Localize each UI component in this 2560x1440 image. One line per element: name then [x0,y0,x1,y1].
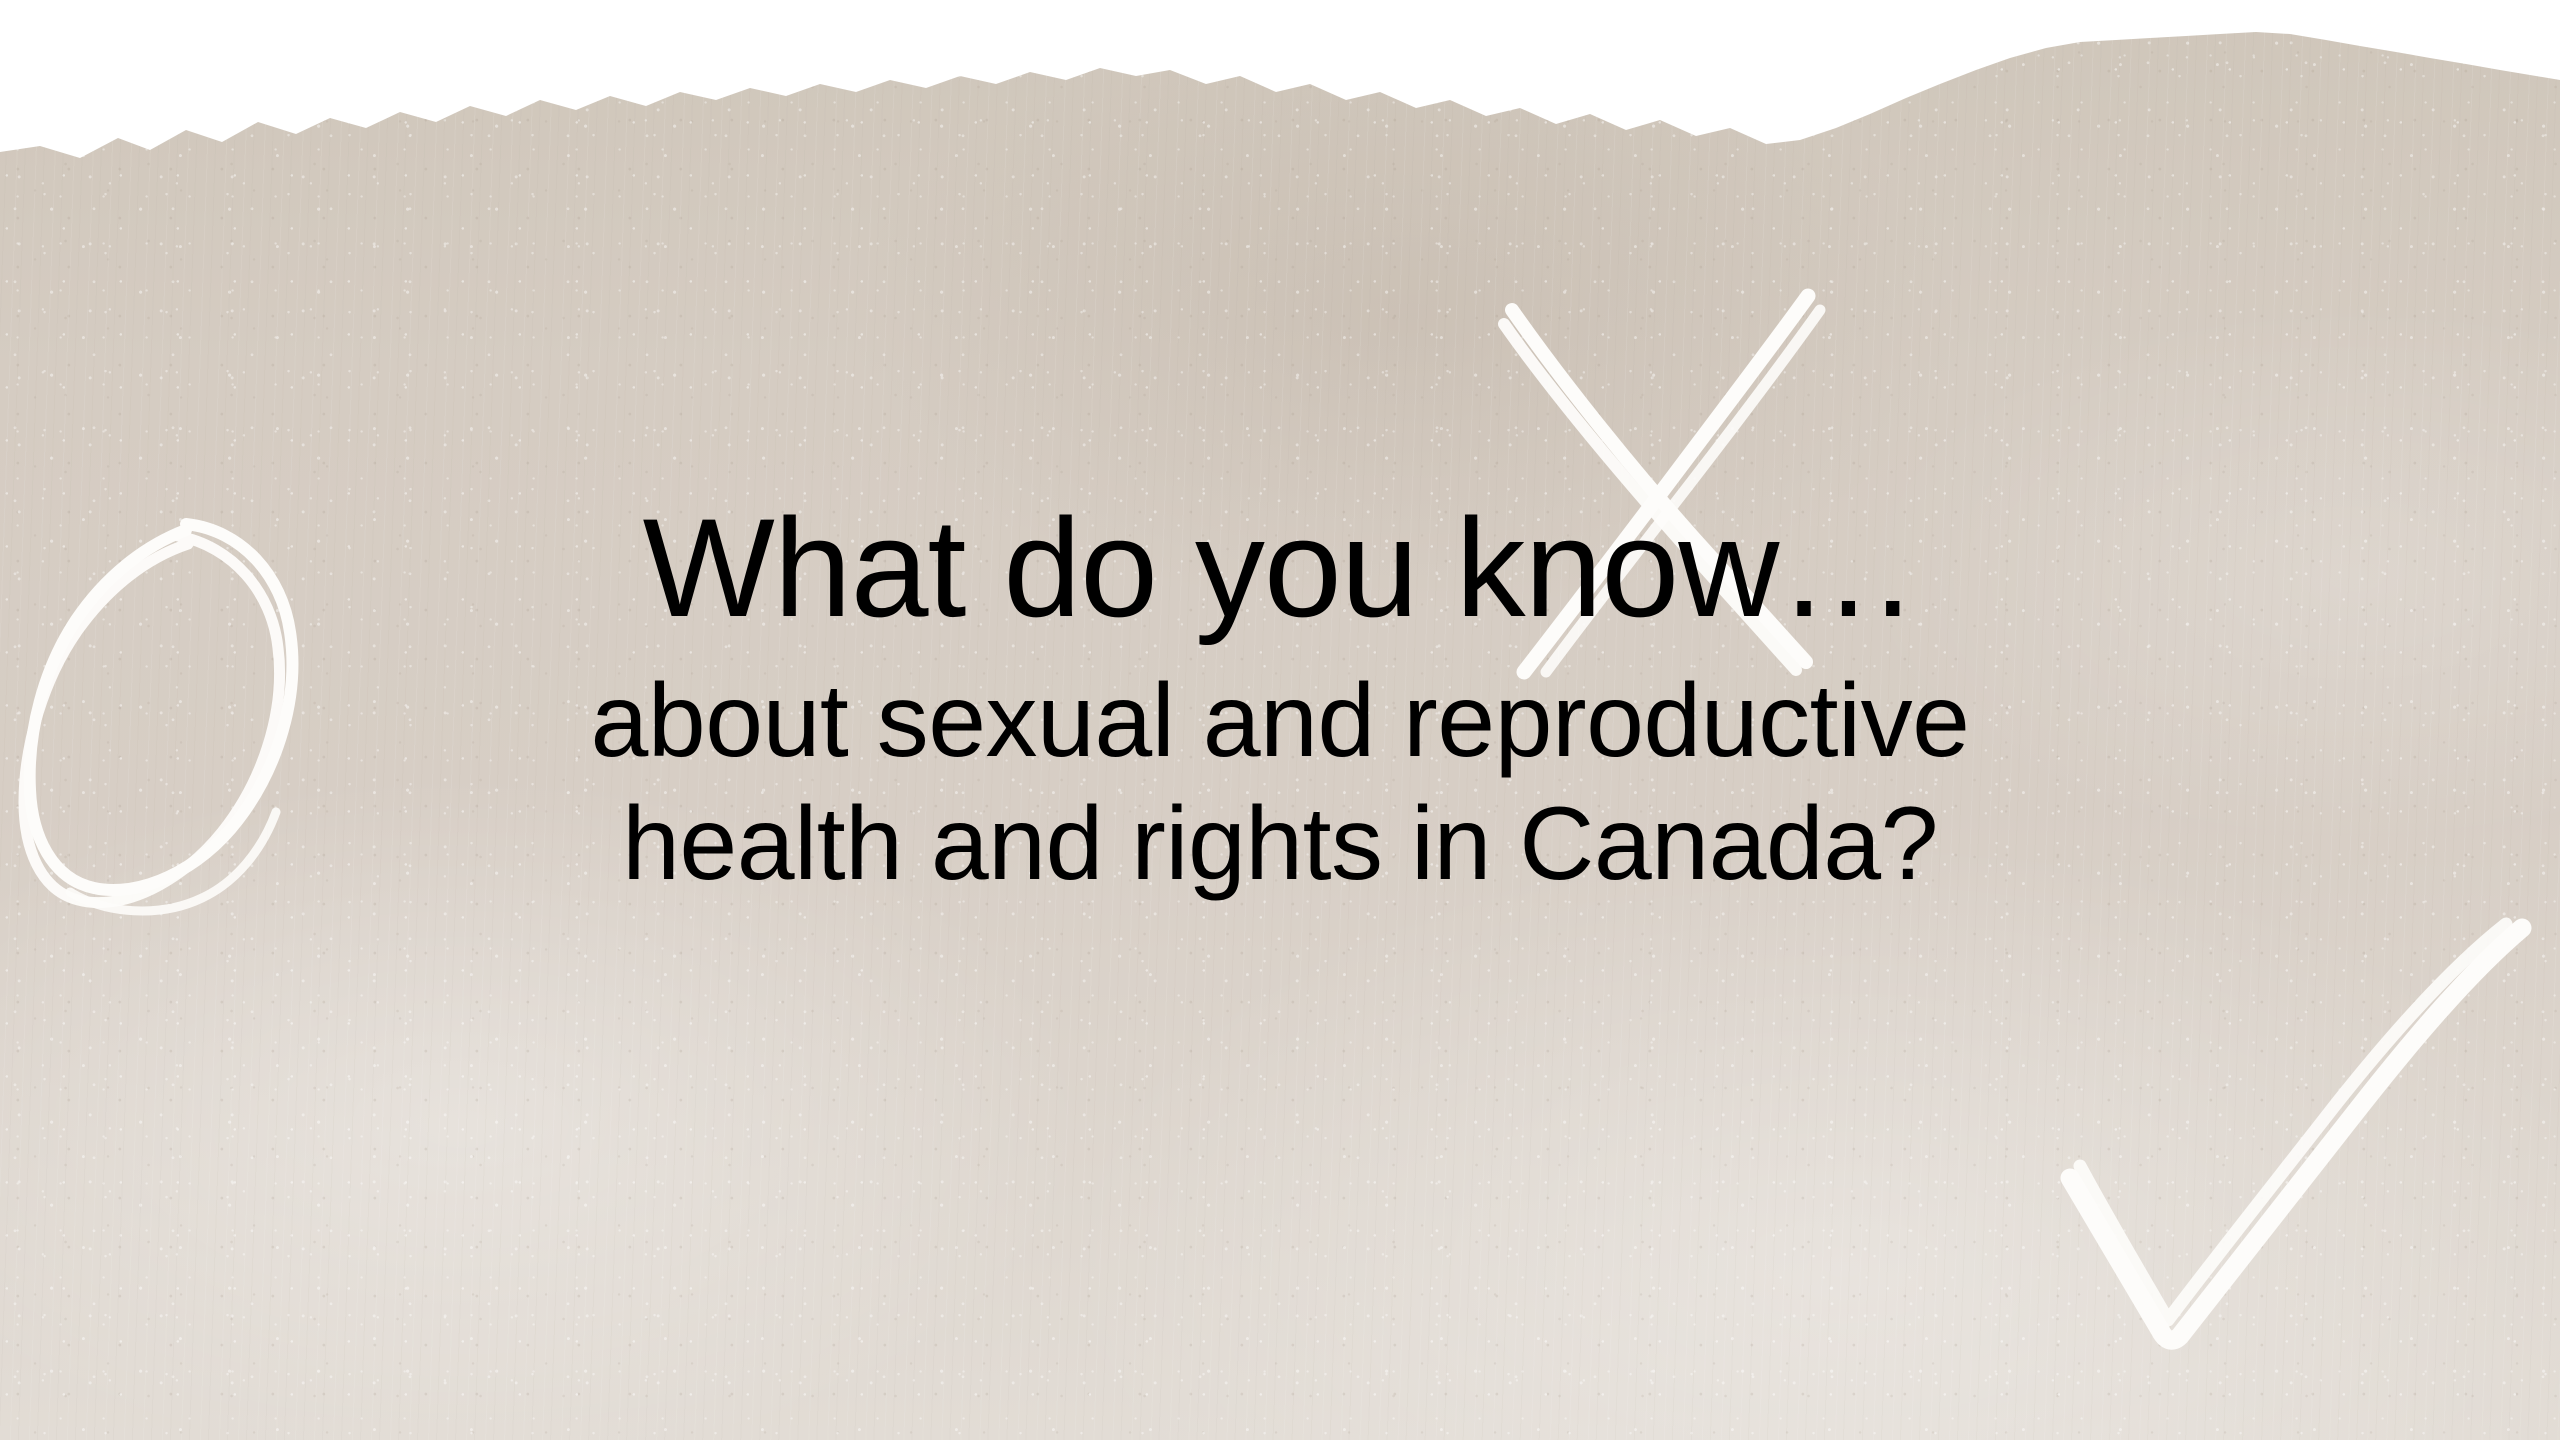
slide-canvas: What do you know… about sexual and repro… [0,0,2560,1440]
page-subtitle: about sexual and reproductive health and… [0,660,2560,905]
page-title: What do you know… [0,498,2560,638]
slide-text-block: What do you know… about sexual and repro… [0,498,2560,905]
subtitle-line-2: health and rights in Canada? [300,783,2260,906]
subtitle-line-1: about sexual and reproductive [300,660,2260,783]
